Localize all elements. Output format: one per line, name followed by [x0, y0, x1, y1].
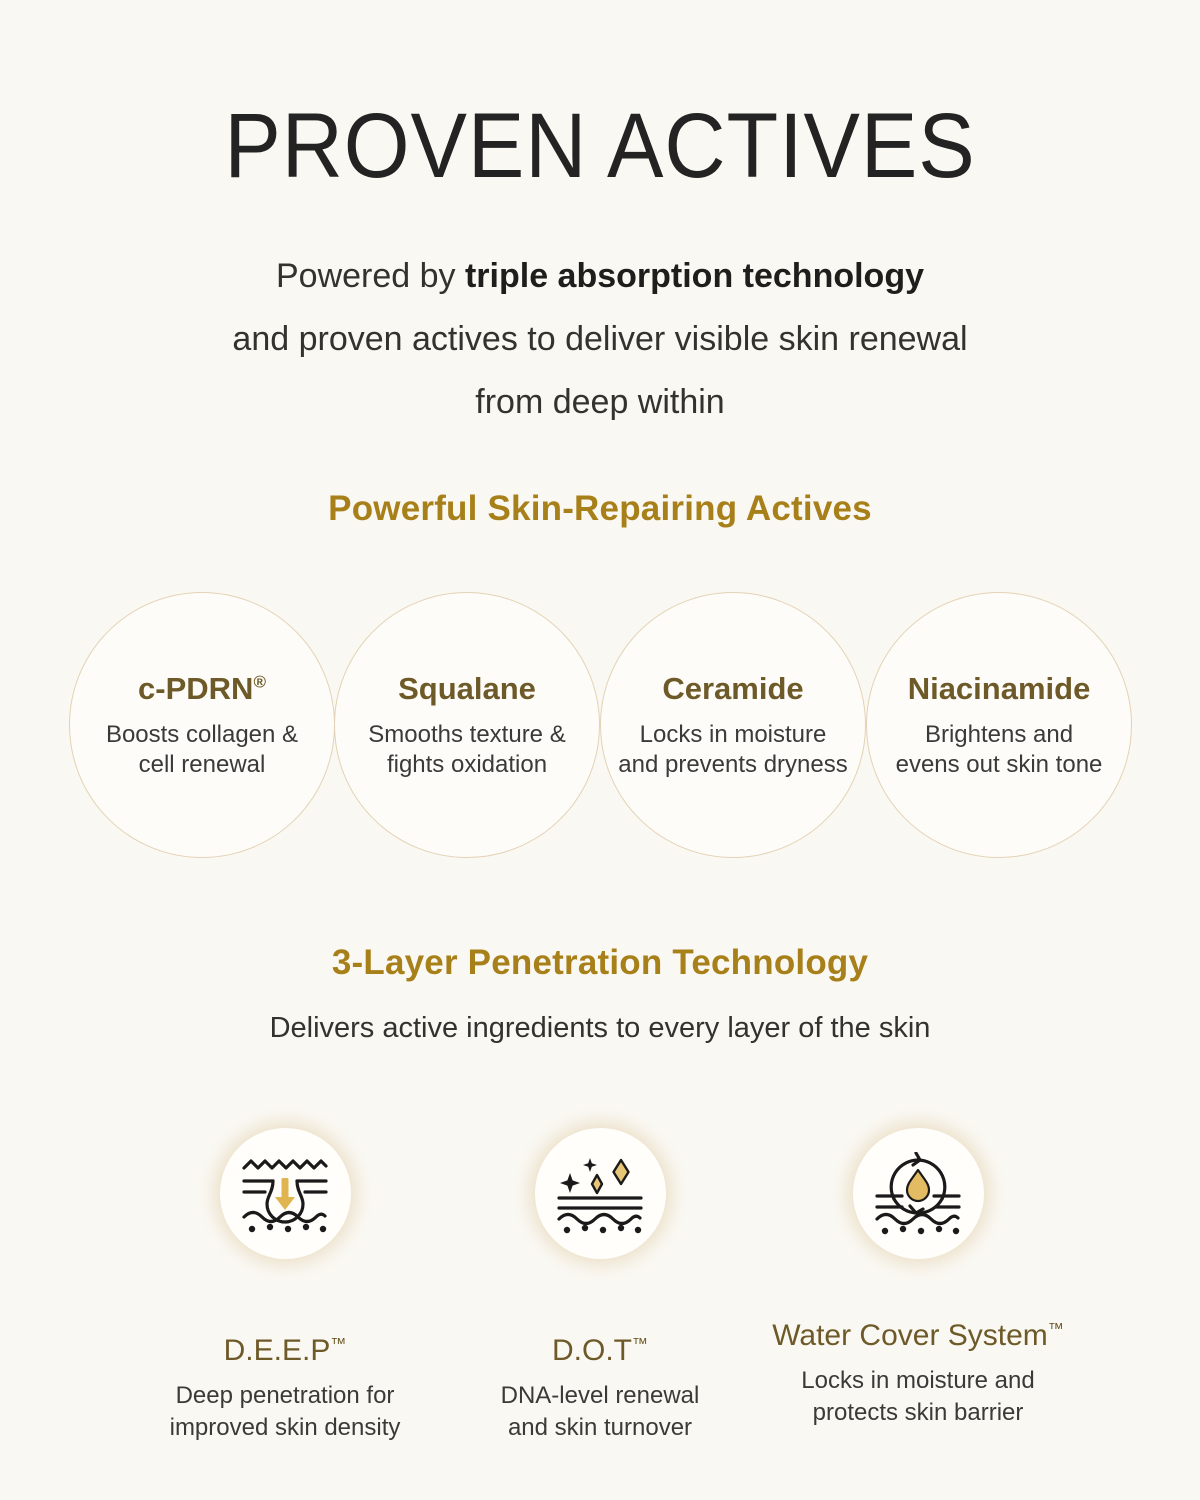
hero-subtitle-emphasis: triple absorption technology	[465, 257, 924, 295]
actives-section-heading: Powerful Skin-Repairing Actives	[0, 489, 1200, 529]
active-name-text: c-PDRN	[138, 671, 253, 706]
hero-subtitle-line-3: from deep within	[0, 371, 1200, 434]
page-title: PROVEN ACTIVES	[48, 96, 1152, 196]
trademark-mark: ™	[1048, 1321, 1064, 1338]
technology-name: D.O.T™	[430, 1334, 770, 1368]
technology-description: Locks in moisture and protects skin barr…	[748, 1365, 1088, 1429]
trademark-mark: ™	[330, 1336, 346, 1353]
technology-section-subheading: Delivers active ingredients to every lay…	[0, 1012, 1200, 1045]
technology-icon-group: D.E.E.P™ Deep penetration for improved s…	[0, 1128, 1200, 1488]
active-description-line-1: Smooths texture &	[368, 720, 565, 750]
active-description: Boosts collagen & cell renewal	[106, 720, 298, 780]
hero-subtitle-prefix: Powered by	[276, 257, 465, 295]
technology-name-text: D.O.T	[552, 1334, 632, 1367]
technology-section-heading: 3-Layer Penetration Technology	[0, 943, 1200, 983]
hero-subtitle-line-1: Powered by triple absorption technology	[0, 245, 1200, 308]
technology-description: DNA-level renewal and skin turnover	[430, 1380, 770, 1444]
active-name: Squalane	[398, 671, 536, 707]
technology-item-dot: D.O.T™ DNA-level renewal and skin turnov…	[430, 1128, 770, 1444]
active-name-text: Niacinamide	[908, 671, 1091, 706]
technology-description-line-2: and skin turnover	[430, 1412, 770, 1444]
active-description-line-2: fights oxidation	[368, 750, 565, 780]
active-description: Locks in moisture and prevents dryness	[618, 720, 847, 780]
active-circle-c-pdrn: c-PDRN® Boosts collagen & cell renewal	[69, 592, 335, 858]
trademark-mark: ™	[632, 1336, 648, 1353]
technology-name-text: D.E.E.P	[224, 1334, 331, 1367]
active-description-line-2: evens out skin tone	[896, 750, 1103, 780]
registered-mark: ®	[253, 672, 266, 691]
active-name: c-PDRN®	[138, 671, 266, 707]
technology-description-line-1: DNA-level renewal	[430, 1380, 770, 1412]
active-description-line-2: and prevents dryness	[618, 750, 847, 780]
active-description: Smooths texture & fights oxidation	[368, 720, 565, 780]
active-description-line-1: Brightens and	[896, 720, 1103, 750]
actives-circle-group: c-PDRN® Boosts collagen & cell renewal S…	[0, 592, 1200, 862]
technology-name: D.E.E.P™	[115, 1334, 455, 1368]
active-circle-ceramide: Ceramide Locks in moisture and prevents …	[600, 592, 866, 858]
active-description: Brightens and evens out skin tone	[896, 720, 1103, 780]
water-droplet-cycle-icon	[853, 1128, 984, 1259]
active-description-line-1: Boosts collagen &	[106, 720, 298, 750]
infographic-page: PROVEN ACTIVES Powered by triple absorpt…	[0, 0, 1200, 1500]
technology-item-deep: D.E.E.P™ Deep penetration for improved s…	[115, 1128, 455, 1444]
technology-description-line-2: improved skin density	[115, 1412, 455, 1444]
active-circle-squalane: Squalane Smooths texture & fights oxidat…	[334, 592, 600, 858]
technology-item-water-cover-system: Water Cover System™ Locks in moisture an…	[748, 1128, 1088, 1429]
skin-sparkle-renewal-icon	[535, 1128, 666, 1259]
active-name-text: Ceramide	[662, 671, 803, 706]
technology-description-line-1: Locks in moisture and	[748, 1365, 1088, 1397]
hero-subtitle-line-2: and proven actives to deliver visible sk…	[0, 308, 1200, 371]
active-name-text: Squalane	[398, 671, 536, 706]
technology-name-text: Water Cover System	[772, 1319, 1048, 1352]
hero-subtitle: Powered by triple absorption technology …	[0, 245, 1200, 434]
technology-description-line-2: protects skin barrier	[748, 1397, 1088, 1429]
technology-description: Deep penetration for improved skin densi…	[115, 1380, 455, 1444]
active-description-line-1: Locks in moisture	[618, 720, 847, 750]
active-description-line-2: cell renewal	[106, 750, 298, 780]
active-name: Ceramide	[662, 671, 803, 707]
active-circle-niacinamide: Niacinamide Brightens and evens out skin…	[866, 592, 1132, 858]
skin-pore-down-arrow-icon	[220, 1128, 351, 1259]
active-name: Niacinamide	[908, 671, 1091, 707]
technology-name: Water Cover System™	[748, 1319, 1088, 1353]
technology-description-line-1: Deep penetration for	[115, 1380, 455, 1412]
